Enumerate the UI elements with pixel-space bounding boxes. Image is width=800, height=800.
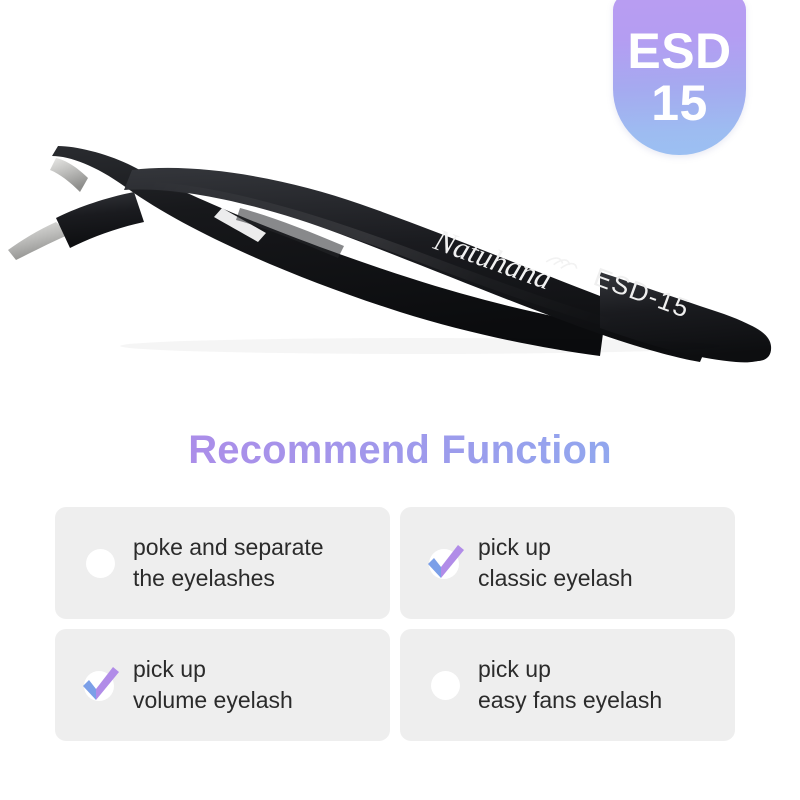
- check-icon: [77, 662, 123, 708]
- badge-label-esd: ESD: [627, 28, 731, 74]
- check-icon: [422, 540, 468, 586]
- feature-text-line: pick up: [478, 532, 633, 563]
- feature-card-poke-and-separate[interactable]: poke and separate the eyelashes: [55, 507, 390, 619]
- feature-marker: [77, 662, 123, 708]
- feature-text: pick up classic eyelash: [478, 532, 633, 593]
- feature-text-line: pick up: [478, 654, 662, 685]
- feature-card-pick-up-classic-eyelash[interactable]: pick up classic eyelash: [400, 507, 735, 619]
- badge-label-number: 15: [651, 80, 708, 126]
- feature-text: pick up volume eyelash: [133, 654, 293, 715]
- feature-marker: [77, 540, 123, 586]
- product-image: Natuhana ESD-15: [0, 130, 800, 370]
- feature-text-line: volume eyelash: [133, 685, 293, 716]
- feature-text: poke and separate the eyelashes: [133, 532, 324, 593]
- empty-circle-icon: [431, 671, 460, 700]
- tweezers-lower-tip-grip: [56, 192, 144, 248]
- recommend-function-grid: poke and separate the eyelashes pick up …: [55, 507, 745, 751]
- feature-card-pick-up-easy-fans-eyelash[interactable]: pick up easy fans eyelash: [400, 629, 735, 741]
- feature-text-line: the eyelashes: [133, 563, 324, 594]
- empty-circle-icon: [86, 549, 115, 578]
- feature-text-line: easy fans eyelash: [478, 685, 662, 716]
- tweezers-upper-tip-icon: [50, 158, 88, 192]
- feature-marker: [422, 540, 468, 586]
- feature-text-line: pick up: [133, 654, 293, 685]
- product-shadow: [120, 338, 720, 354]
- tweezers-illustration: Natuhana ESD-15: [0, 130, 800, 370]
- section-title: Recommend Function: [0, 428, 800, 473]
- feature-text-line: classic eyelash: [478, 563, 633, 594]
- feature-text: pick up easy fans eyelash: [478, 654, 662, 715]
- feature-marker: [422, 662, 468, 708]
- feature-text-line: poke and separate: [133, 532, 324, 563]
- feature-card-pick-up-volume-eyelash[interactable]: pick up volume eyelash: [55, 629, 390, 741]
